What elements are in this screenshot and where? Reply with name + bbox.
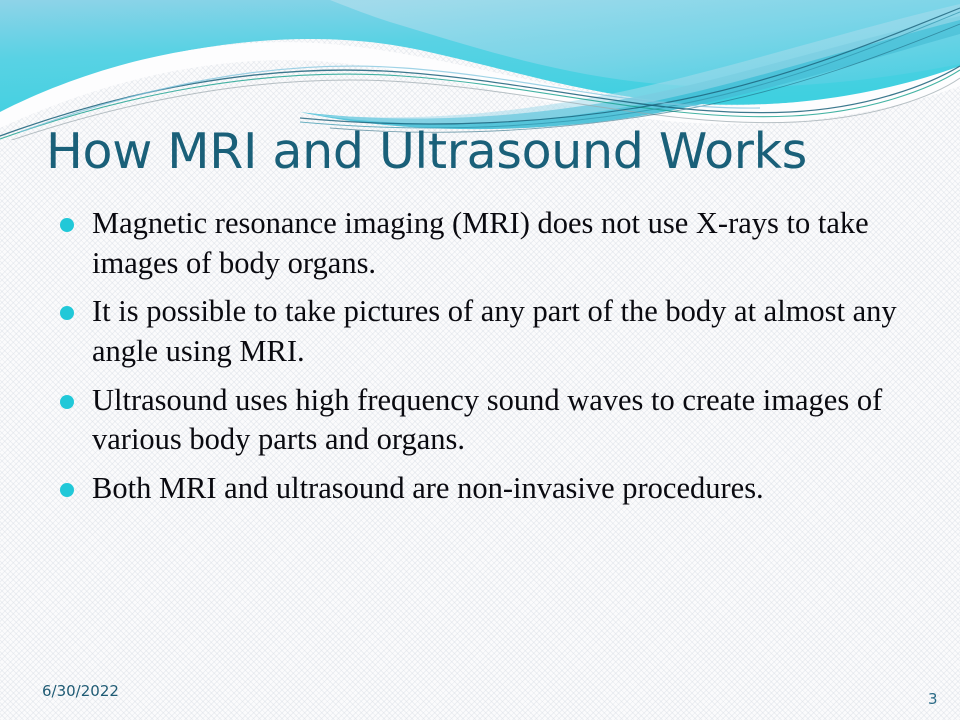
footer-date: 6/30/2022 <box>42 682 119 700</box>
list-item-text: Ultrasound uses high frequency sound wav… <box>92 383 882 457</box>
list-item: Both MRI and ultrasound are non-invasive… <box>52 469 932 509</box>
list-item: Magnetic resonance imaging (MRI) does no… <box>52 204 932 283</box>
slide-title: How MRI and Ultrasound Works <box>46 126 916 179</box>
bullet-dot-icon <box>60 395 74 409</box>
slide: How MRI and Ultrasound Works Magnetic re… <box>0 0 960 720</box>
list-item-text: It is possible to take pictures of any p… <box>92 294 897 368</box>
bullet-dot-icon <box>60 306 74 320</box>
bullet-dot-icon <box>60 218 74 232</box>
bullet-list: Magnetic resonance imaging (MRI) does no… <box>52 204 932 517</box>
footer-slide-number: 3 <box>928 690 938 708</box>
list-item-text: Magnetic resonance imaging (MRI) does no… <box>92 206 869 280</box>
list-item: Ultrasound uses high frequency sound wav… <box>52 381 932 460</box>
header-wave-decoration <box>0 0 960 140</box>
bullet-dot-icon <box>60 483 74 497</box>
list-item-text: Both MRI and ultrasound are non-invasive… <box>92 471 764 505</box>
list-item: It is possible to take pictures of any p… <box>52 292 932 371</box>
